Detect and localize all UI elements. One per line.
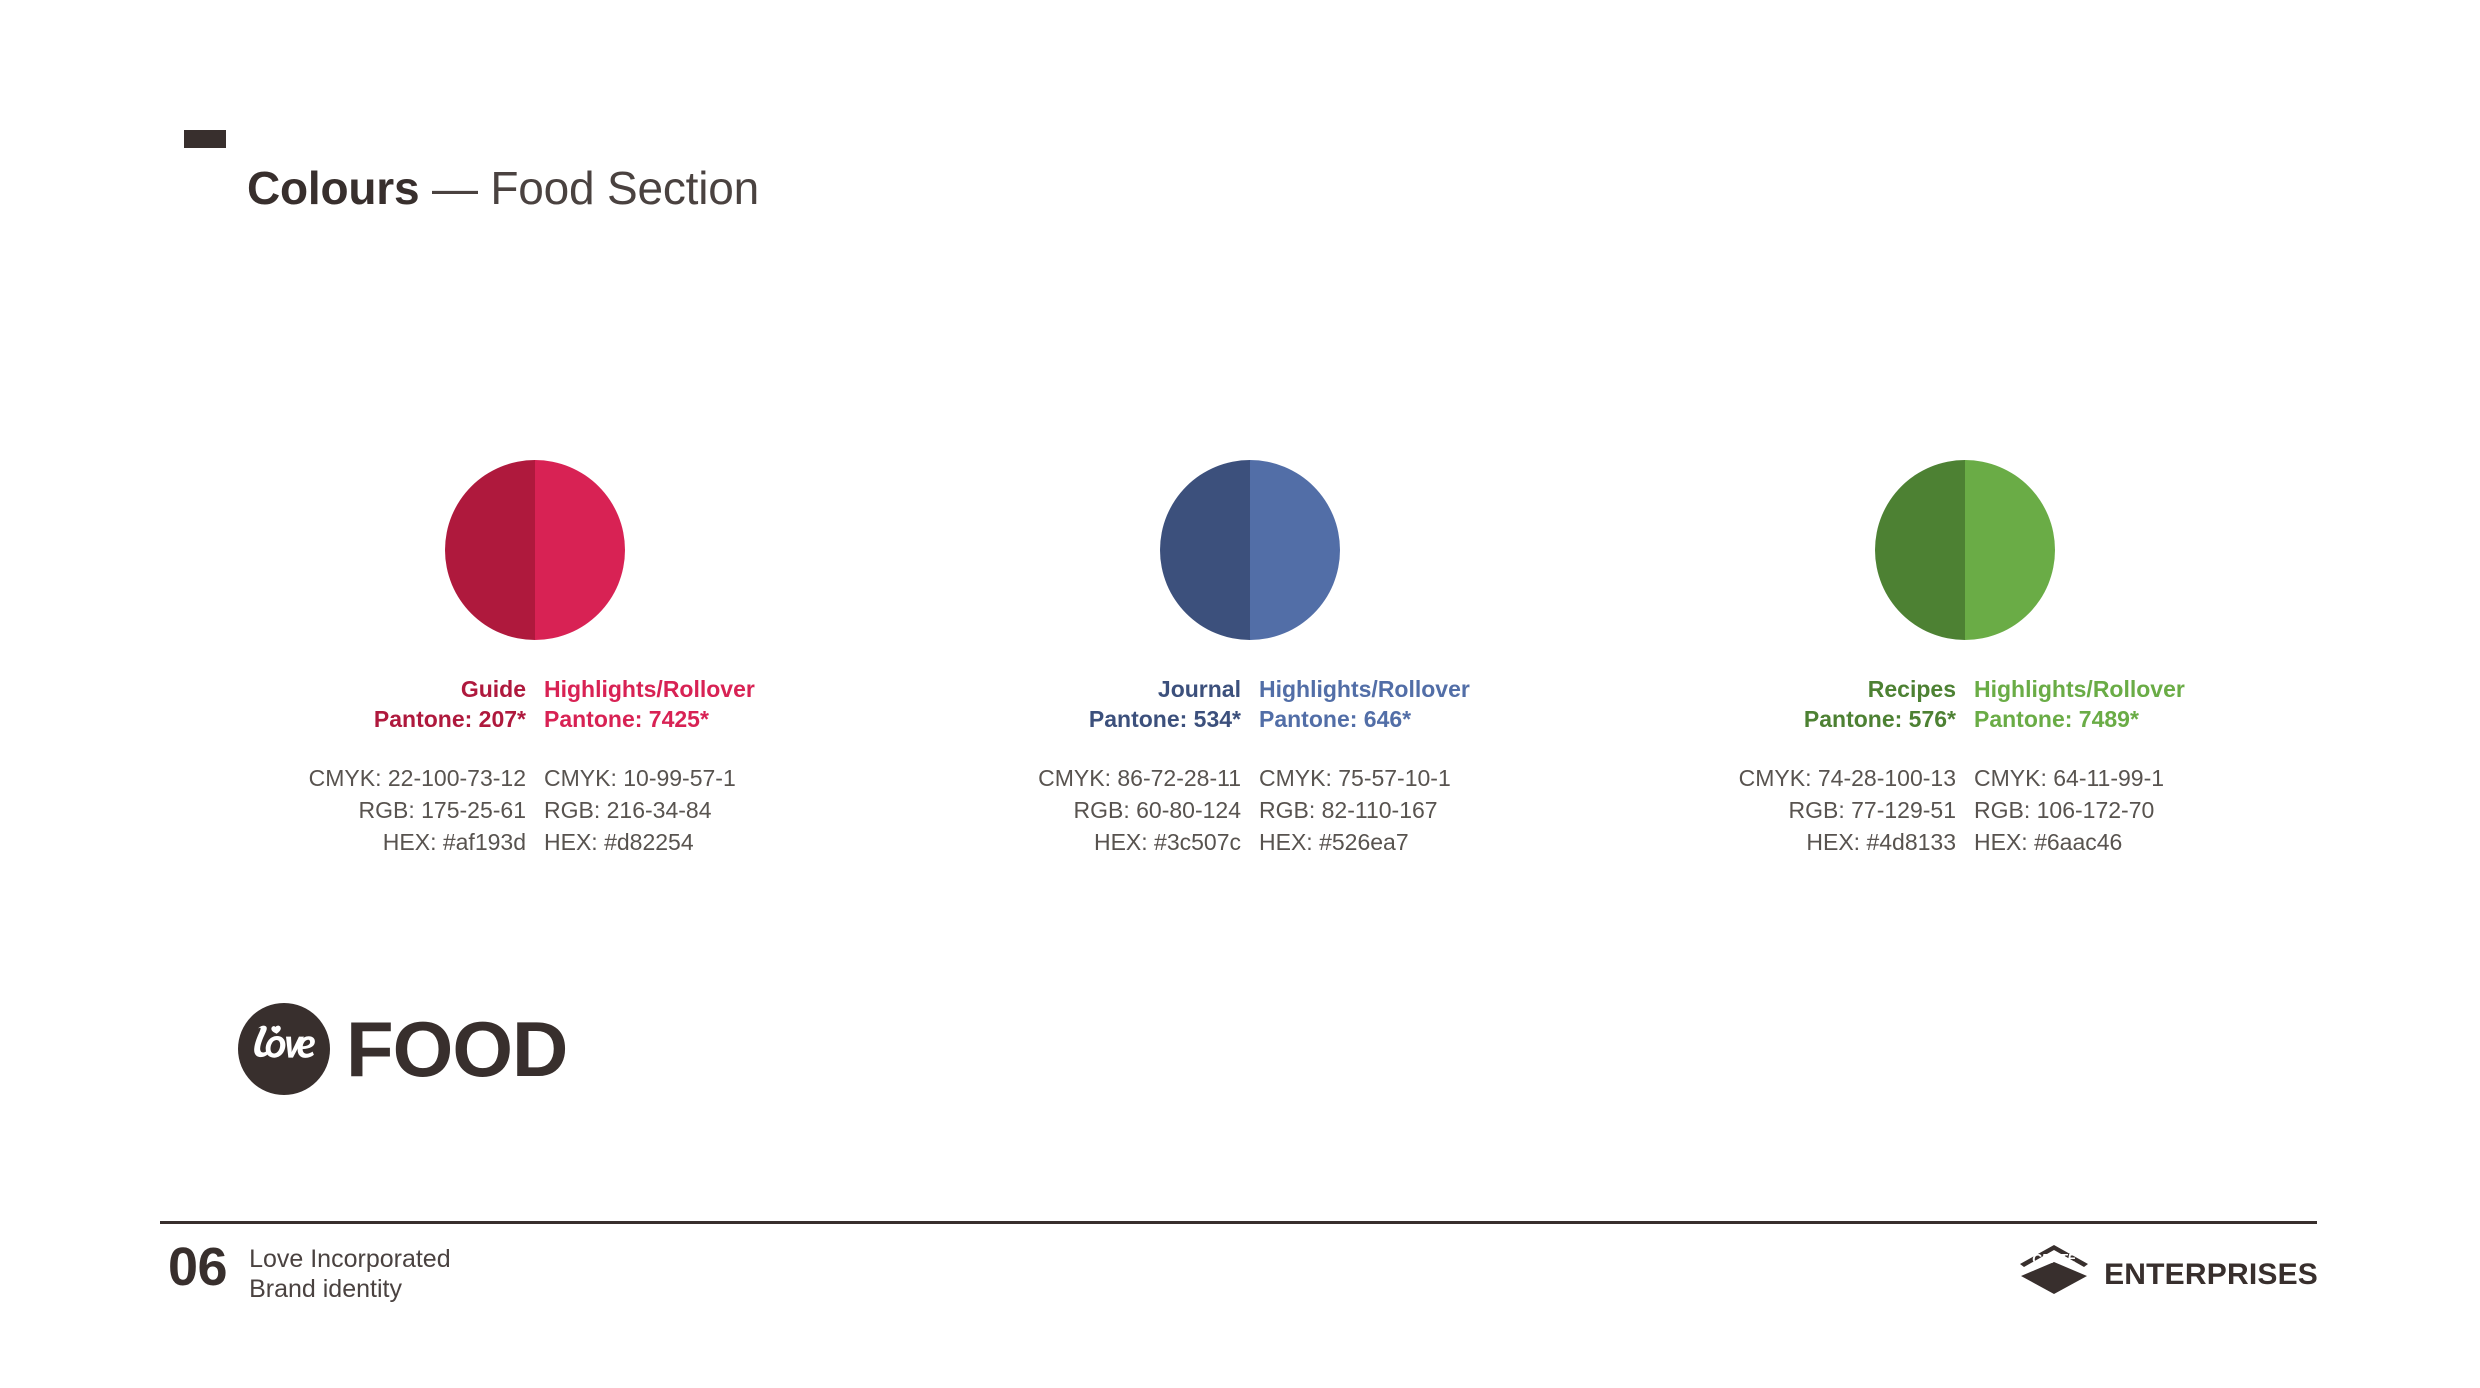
colour-pantone: Pantone: 7425*: [544, 704, 845, 734]
colour-specs: CMYK: 22-100-73-12 RGB: 175-25-61 HEX: #…: [225, 762, 845, 858]
swatch-half-highlight: [1965, 460, 2055, 640]
section-tick-mark: [184, 130, 226, 148]
love-food-logo: FOOD: [238, 1003, 567, 1095]
hex-value: HEX: #4d8133: [1655, 826, 1956, 858]
colour-pantone: Pantone: 646*: [1259, 704, 1560, 734]
cmyk-value: CMYK: 74-28-100-13: [1655, 762, 1956, 794]
swatch-half-base: [1875, 460, 1965, 640]
colour-group-food-recipes: Recipes Pantone: 576* Highlights/Rollove…: [1655, 460, 2275, 858]
colour-name: Highlights/Rollover: [1259, 674, 1560, 704]
page-number: 06: [168, 1238, 227, 1296]
colour-group-food-guide: Guide Pantone: 207* Highlights/Rollover …: [225, 460, 845, 858]
colour-name: Recipes: [1655, 674, 1956, 704]
footer-meta: Love Incorporated Brand identity: [249, 1244, 451, 1304]
swatch-half-highlight: [1250, 460, 1340, 640]
colour-label-highlight: Highlights/Rollover Pantone: 7425*: [535, 674, 845, 734]
hex-value: HEX: #af193d: [225, 826, 526, 858]
colour-pantone: Pantone: 7489*: [1974, 704, 2275, 734]
cmyk-value: CMYK: 86-72-28-11: [940, 762, 1241, 794]
colour-labels: Recipes Pantone: 576* Highlights/Rollove…: [1655, 674, 2275, 734]
footer-company: Love Incorporated: [249, 1244, 451, 1274]
page-title: Colours — Food Section: [247, 160, 759, 216]
footer-divider: [160, 1221, 2317, 1224]
crate-enterprises-logo: CRATE ENTERPRISES: [2018, 1244, 2318, 1305]
hex-value: HEX: #3c507c: [940, 826, 1241, 858]
colour-pantone: Pantone: 207*: [225, 704, 526, 734]
colour-spec-highlight: CMYK: 75-57-10-1 RGB: 82-110-167 HEX: #5…: [1250, 762, 1560, 858]
rgb-value: RGB: 82-110-167: [1259, 794, 1560, 826]
colour-label-highlight: Highlights/Rollover Pantone: 646*: [1250, 674, 1560, 734]
colour-swatch-circle: [445, 460, 625, 640]
hex-value: HEX: #526ea7: [1259, 826, 1560, 858]
food-wordmark: FOOD: [346, 1010, 567, 1088]
page-title-rest: — Food Section: [419, 162, 759, 214]
colour-labels: Guide Pantone: 207* Highlights/Rollover …: [225, 674, 845, 734]
rgb-value: RGB: 216-34-84: [544, 794, 845, 826]
footer-document: Brand identity: [249, 1274, 451, 1304]
colour-name: Highlights/Rollover: [1974, 674, 2275, 704]
rgb-value: RGB: 175-25-61: [225, 794, 526, 826]
colour-swatch-circle: [1875, 460, 2055, 640]
hex-value: HEX: #6aac46: [1974, 826, 2275, 858]
cmyk-value: CMYK: 75-57-10-1: [1259, 762, 1560, 794]
hex-value: HEX: #d82254: [544, 826, 845, 858]
colour-specs: CMYK: 74-28-100-13 RGB: 77-129-51 HEX: #…: [1655, 762, 2275, 858]
cmyk-value: CMYK: 64-11-99-1: [1974, 762, 2275, 794]
colour-spec-highlight: CMYK: 10-99-57-1 RGB: 216-34-84 HEX: #d8…: [535, 762, 845, 858]
colour-specs: CMYK: 86-72-28-11 RGB: 60-80-124 HEX: #3…: [940, 762, 1560, 858]
colour-name: Highlights/Rollover: [544, 674, 845, 704]
cmyk-value: CMYK: 10-99-57-1: [544, 762, 845, 794]
love-badge-icon: [238, 1003, 330, 1095]
rgb-value: RGB: 106-172-70: [1974, 794, 2275, 826]
rgb-value: RGB: 77-129-51: [1655, 794, 1956, 826]
crate-box-icon: CRATE: [2018, 1244, 2090, 1305]
cmyk-value: CMYK: 22-100-73-12: [225, 762, 526, 794]
colour-spec-base: CMYK: 22-100-73-12 RGB: 175-25-61 HEX: #…: [225, 762, 535, 858]
colour-pantone: Pantone: 534*: [940, 704, 1241, 734]
swatch-half-base: [445, 460, 535, 640]
swatch-half-highlight: [535, 460, 625, 640]
colour-label-base: Journal Pantone: 534*: [940, 674, 1250, 734]
crate-wordmark: ENTERPRISES: [2104, 1259, 2318, 1291]
colour-spec-highlight: CMYK: 64-11-99-1 RGB: 106-172-70 HEX: #6…: [1965, 762, 2275, 858]
colour-swatch-circle: [1160, 460, 1340, 640]
colour-name: Journal: [940, 674, 1241, 704]
colour-label-base: Recipes Pantone: 576*: [1655, 674, 1965, 734]
colour-spec-base: CMYK: 86-72-28-11 RGB: 60-80-124 HEX: #3…: [940, 762, 1250, 858]
colour-label-base: Guide Pantone: 207*: [225, 674, 535, 734]
swatch-half-base: [1160, 460, 1250, 640]
colour-label-highlight: Highlights/Rollover Pantone: 7489*: [1965, 674, 2275, 734]
colour-group-food-journal: Journal Pantone: 534* Highlights/Rollove…: [940, 460, 1560, 858]
footer-left: 06 Love Incorporated Brand identity: [168, 1238, 451, 1304]
colour-labels: Journal Pantone: 534* Highlights/Rollove…: [940, 674, 1560, 734]
svg-text:CRATE: CRATE: [2032, 1251, 2076, 1266]
colour-spec-base: CMYK: 74-28-100-13 RGB: 77-129-51 HEX: #…: [1655, 762, 1965, 858]
rgb-value: RGB: 60-80-124: [940, 794, 1241, 826]
page-title-bold: Colours: [247, 162, 419, 214]
colour-pantone: Pantone: 576*: [1655, 704, 1956, 734]
colour-name: Guide: [225, 674, 526, 704]
